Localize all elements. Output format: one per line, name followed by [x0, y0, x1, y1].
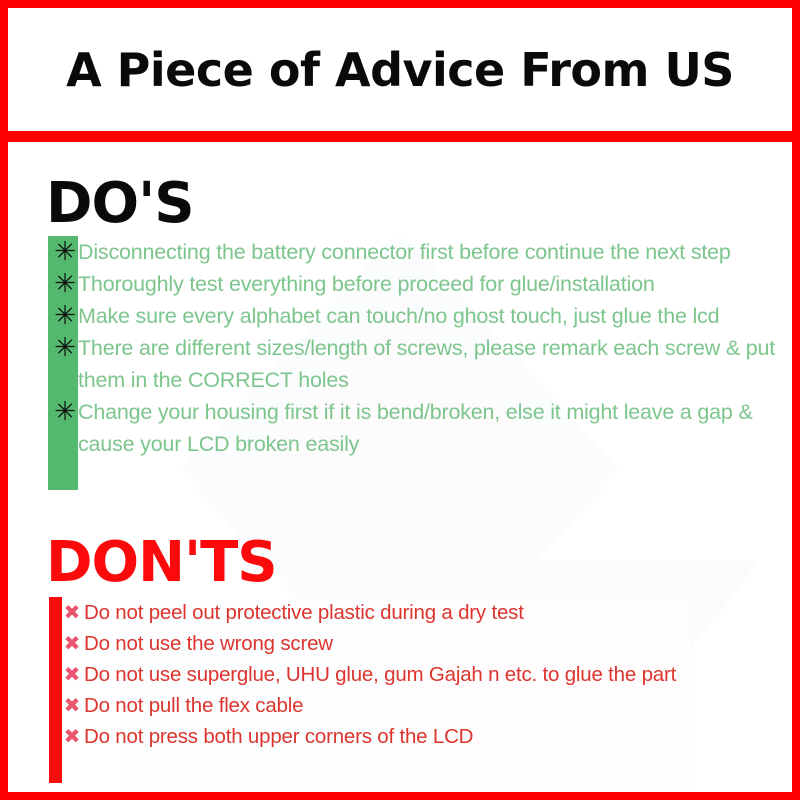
dos-list-item: ✳ Make sure every alphabet can touch/no …: [52, 300, 782, 332]
donts-list-item: ✖ Do not use the wrong screw: [60, 628, 790, 659]
donts-item-text: Do not press both upper corners of the L…: [84, 721, 790, 752]
donts-list-item: ✖ Do not use superglue, UHU glue, gum Ga…: [60, 659, 790, 690]
dos-list-item: ✳ Thoroughly test everything before proc…: [52, 268, 782, 300]
dos-list-item: ✳ There are different sizes/length of sc…: [52, 332, 782, 396]
advice-poster: A Piece of Advice From US DO'S ✳ Disconn…: [0, 0, 800, 800]
dos-heading: DO'S: [46, 176, 194, 232]
cross-mark-icon: ✖: [60, 721, 84, 752]
dos-item-text: Make sure every alphabet can touch/no gh…: [78, 300, 782, 332]
cross-mark-icon: ✖: [60, 628, 84, 659]
asterisk-icon: ✳: [52, 236, 78, 268]
donts-list-item: ✖ Do not press both upper corners of the…: [60, 721, 790, 752]
donts-item-text: Do not use the wrong screw: [84, 628, 790, 659]
title-divider-rule: [8, 131, 792, 142]
dos-list-item: ✳ Change your housing first if it is ben…: [52, 396, 782, 460]
page-title: A Piece of Advice From US: [66, 43, 734, 97]
donts-item-text: Do not pull the flex cable: [84, 690, 790, 721]
donts-item-text: Do not use superglue, UHU glue, gum Gaja…: [84, 659, 790, 690]
donts-list: ✖ Do not peel out protective plastic dur…: [60, 597, 790, 752]
donts-list-item: ✖ Do not peel out protective plastic dur…: [60, 597, 790, 628]
asterisk-icon: ✳: [52, 268, 78, 300]
dos-list: ✳ Disconnecting the battery connector fi…: [52, 236, 782, 460]
donts-heading: DON'TS: [46, 535, 277, 591]
asterisk-icon: ✳: [52, 300, 78, 332]
donts-item-text: Do not peel out protective plastic durin…: [84, 597, 790, 628]
asterisk-icon: ✳: [52, 396, 78, 428]
dos-list-item: ✳ Disconnecting the battery connector fi…: [52, 236, 782, 268]
cross-mark-icon: ✖: [60, 659, 84, 690]
poster-title-bar: A Piece of Advice From US: [8, 8, 792, 131]
asterisk-icon: ✳: [52, 332, 78, 364]
donts-list-item: ✖ Do not pull the flex cable: [60, 690, 790, 721]
dos-item-text: Disconnecting the battery connector firs…: [78, 236, 782, 268]
cross-mark-icon: ✖: [60, 597, 84, 628]
cross-mark-icon: ✖: [60, 690, 84, 721]
dos-item-text: Change your housing first if it is bend/…: [78, 396, 782, 460]
dos-item-text: There are different sizes/length of scre…: [78, 332, 782, 396]
dos-item-text: Thoroughly test everything before procee…: [78, 268, 782, 300]
